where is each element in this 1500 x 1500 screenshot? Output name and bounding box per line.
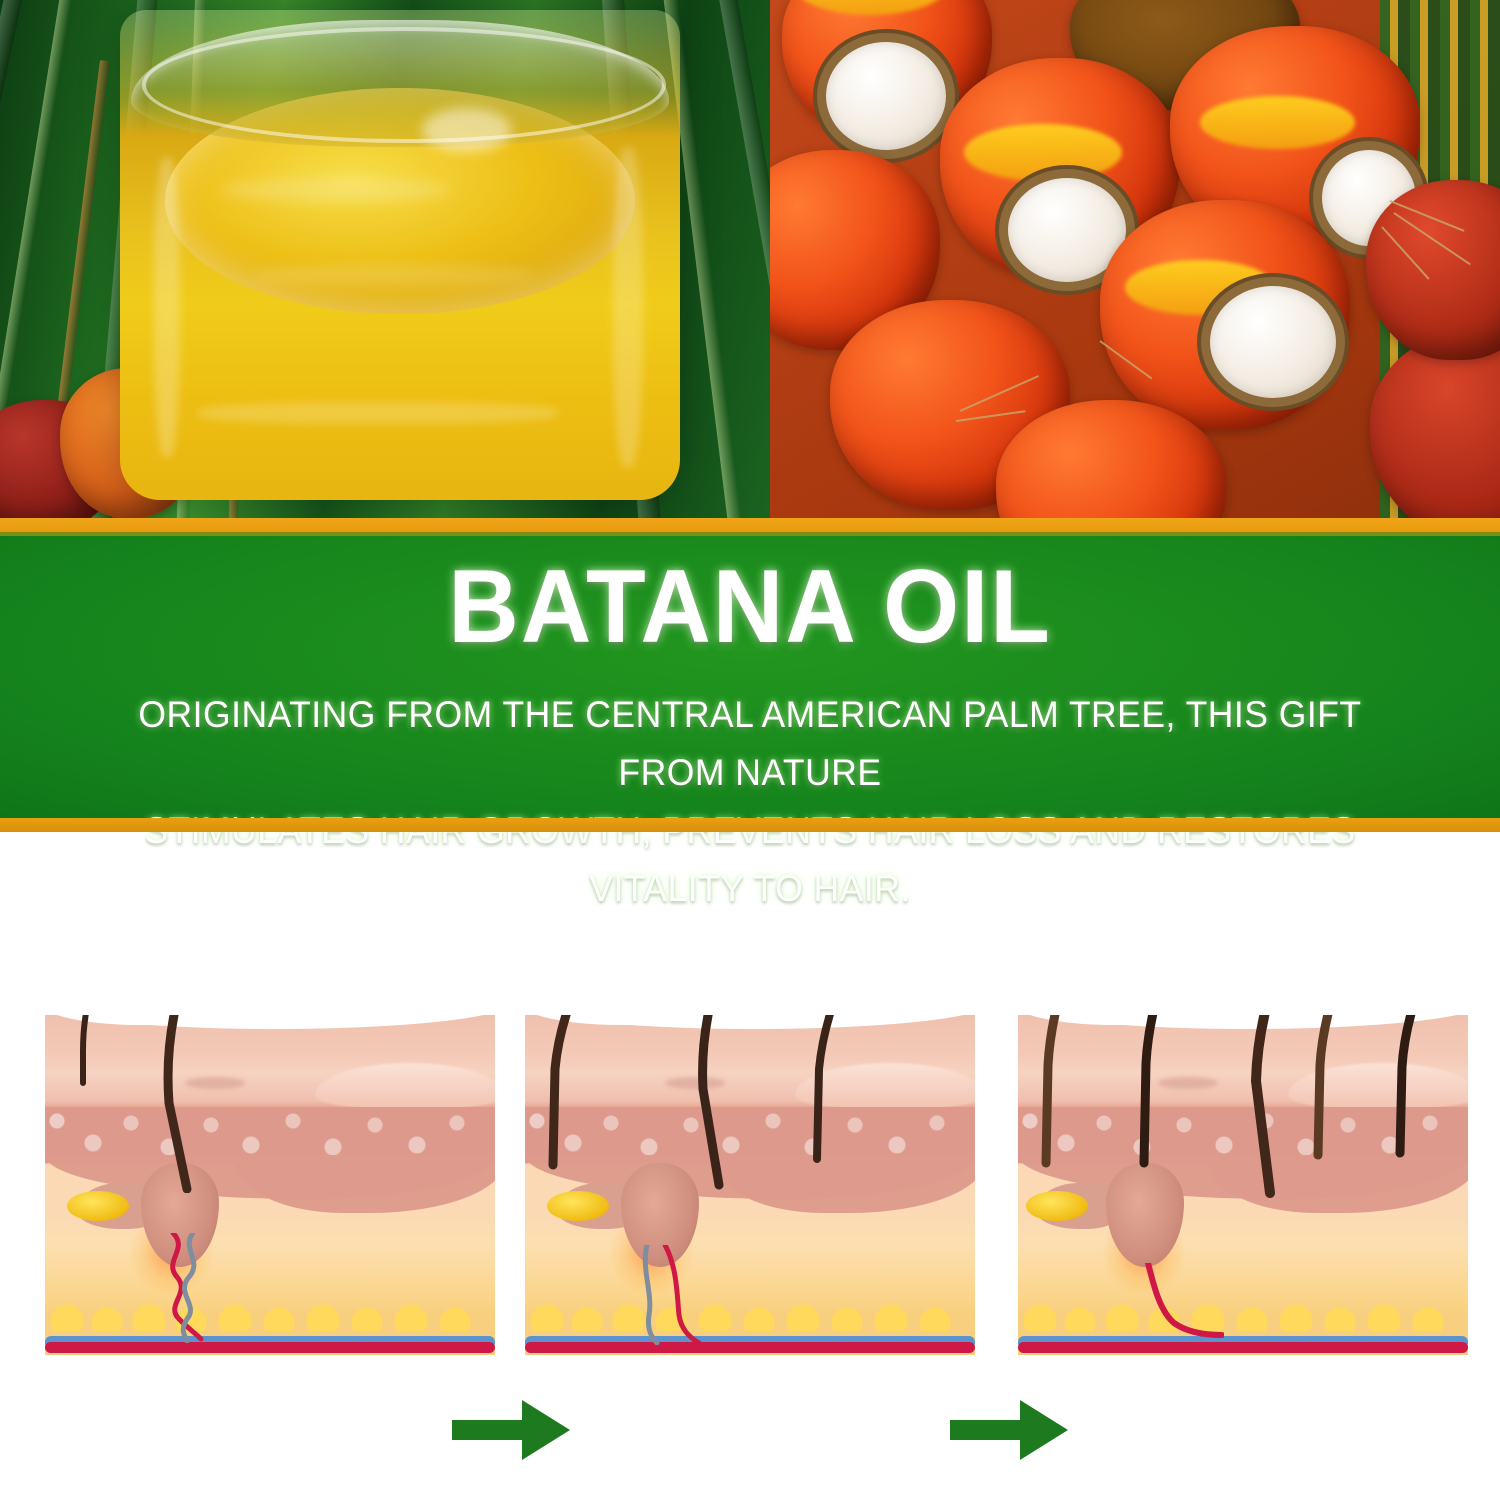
hair-strand xyxy=(1362,1015,1468,1163)
stage-week-4: WEEK 4 xyxy=(525,1015,975,1355)
description-line-1: ORIGINATING FROM THE CENTRAL AMERICAN PA… xyxy=(88,686,1413,802)
capillary-wiggle xyxy=(1114,1263,1224,1343)
progress-arrow-2-icon xyxy=(950,1398,1070,1462)
capillary-wiggle xyxy=(155,1233,275,1343)
hair-strand xyxy=(1022,1015,1132,1175)
gold-divider-top xyxy=(0,518,1500,532)
page-title: BATANA OIL xyxy=(45,552,1455,662)
capillary-wiggle xyxy=(637,1245,747,1345)
skin-cross-section-week-8 xyxy=(1018,1015,1468,1355)
batana-oil-infographic: BATANA OIL ORIGINATING FROM THE CENTRAL … xyxy=(0,0,1500,1500)
hair-strand xyxy=(531,1015,651,1173)
hair-strand xyxy=(645,1015,785,1191)
gold-divider-bottom xyxy=(0,818,1500,832)
bowl-of-batana-oil-photo xyxy=(0,0,770,518)
glass-bowl xyxy=(120,10,680,500)
palm-kernel xyxy=(826,42,946,150)
progress-arrow-1-icon xyxy=(452,1398,572,1462)
product-banner: BATANA OIL ORIGINATING FROM THE CENTRAL … xyxy=(0,536,1500,818)
skin-cross-section-week-1 xyxy=(45,1015,495,1355)
skin-cross-section-week-4 xyxy=(525,1015,975,1355)
hero-photo-band xyxy=(0,0,1500,518)
product-description: ORIGINATING FROM THE CENTRAL AMERICAN PA… xyxy=(88,686,1413,918)
palm-fruit-cluster-photo xyxy=(770,0,1500,518)
palm-kernel xyxy=(1210,286,1336,398)
hair-strand xyxy=(775,1015,905,1167)
hair-strand xyxy=(107,1015,247,1193)
stage-week-1: WEEK 1 xyxy=(45,1015,495,1355)
stage-week-8: WEEK 8 xyxy=(1018,1015,1468,1355)
